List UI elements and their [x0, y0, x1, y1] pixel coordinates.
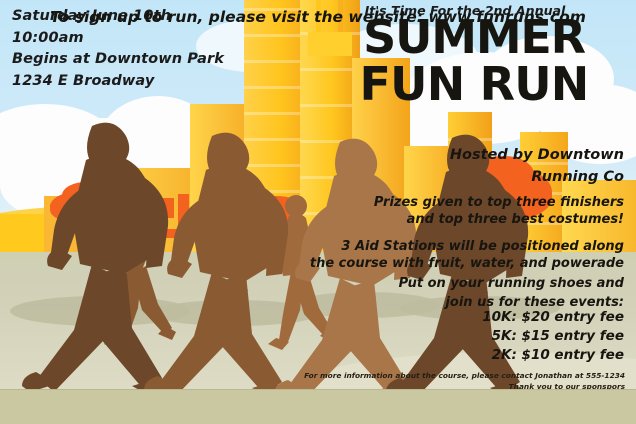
- call-to-action: Put on your running shoes and join us fo…: [284, 274, 624, 312]
- title-line-2: FUN RUN: [316, 61, 632, 108]
- fee-item-5k: 5K: $15 entry fee: [284, 327, 624, 346]
- runner-silhouette: [22, 123, 168, 398]
- runner-silhouette: [144, 133, 288, 400]
- event-start-location: Begins at Downtown Park: [12, 49, 312, 71]
- aid-stations-info: 3 Aid Stations will be positioned along …: [284, 238, 624, 272]
- event-address: 1234 E Broadway: [12, 71, 312, 93]
- host-line-1: Hosted by Downtown: [324, 144, 624, 166]
- footer-signup-text: To sign up to run, please visit the webs…: [0, 0, 636, 34]
- host-line-2: Running Co: [324, 166, 624, 188]
- prizes-line-1: Prizes given to top three finishers: [304, 194, 624, 211]
- cta-line-1: Put on your running shoes and: [284, 274, 624, 293]
- entry-fee-list: 10K: $20 entry fee 5K: $15 entry fee 2K:…: [284, 308, 624, 365]
- event-poster: Saturday June 10th 10:00am Begins at Dow…: [0, 0, 636, 424]
- contact-info: For more information about the course, p…: [205, 370, 625, 381]
- footer-bar: [0, 389, 636, 424]
- host-info: Hosted by Downtown Running Co: [324, 144, 624, 188]
- prizes-info: Prizes given to top three finishers and …: [304, 194, 624, 228]
- prizes-line-2: and top three best costumes!: [304, 211, 624, 228]
- fee-item-10k: 10K: $20 entry fee: [284, 308, 624, 327]
- aid-stations-line-2: the course with fruit, water, and powera…: [284, 255, 624, 272]
- aid-stations-line-1: 3 Aid Stations will be positioned along: [284, 238, 624, 255]
- fee-item-2k: 2K: $10 entry fee: [284, 346, 624, 365]
